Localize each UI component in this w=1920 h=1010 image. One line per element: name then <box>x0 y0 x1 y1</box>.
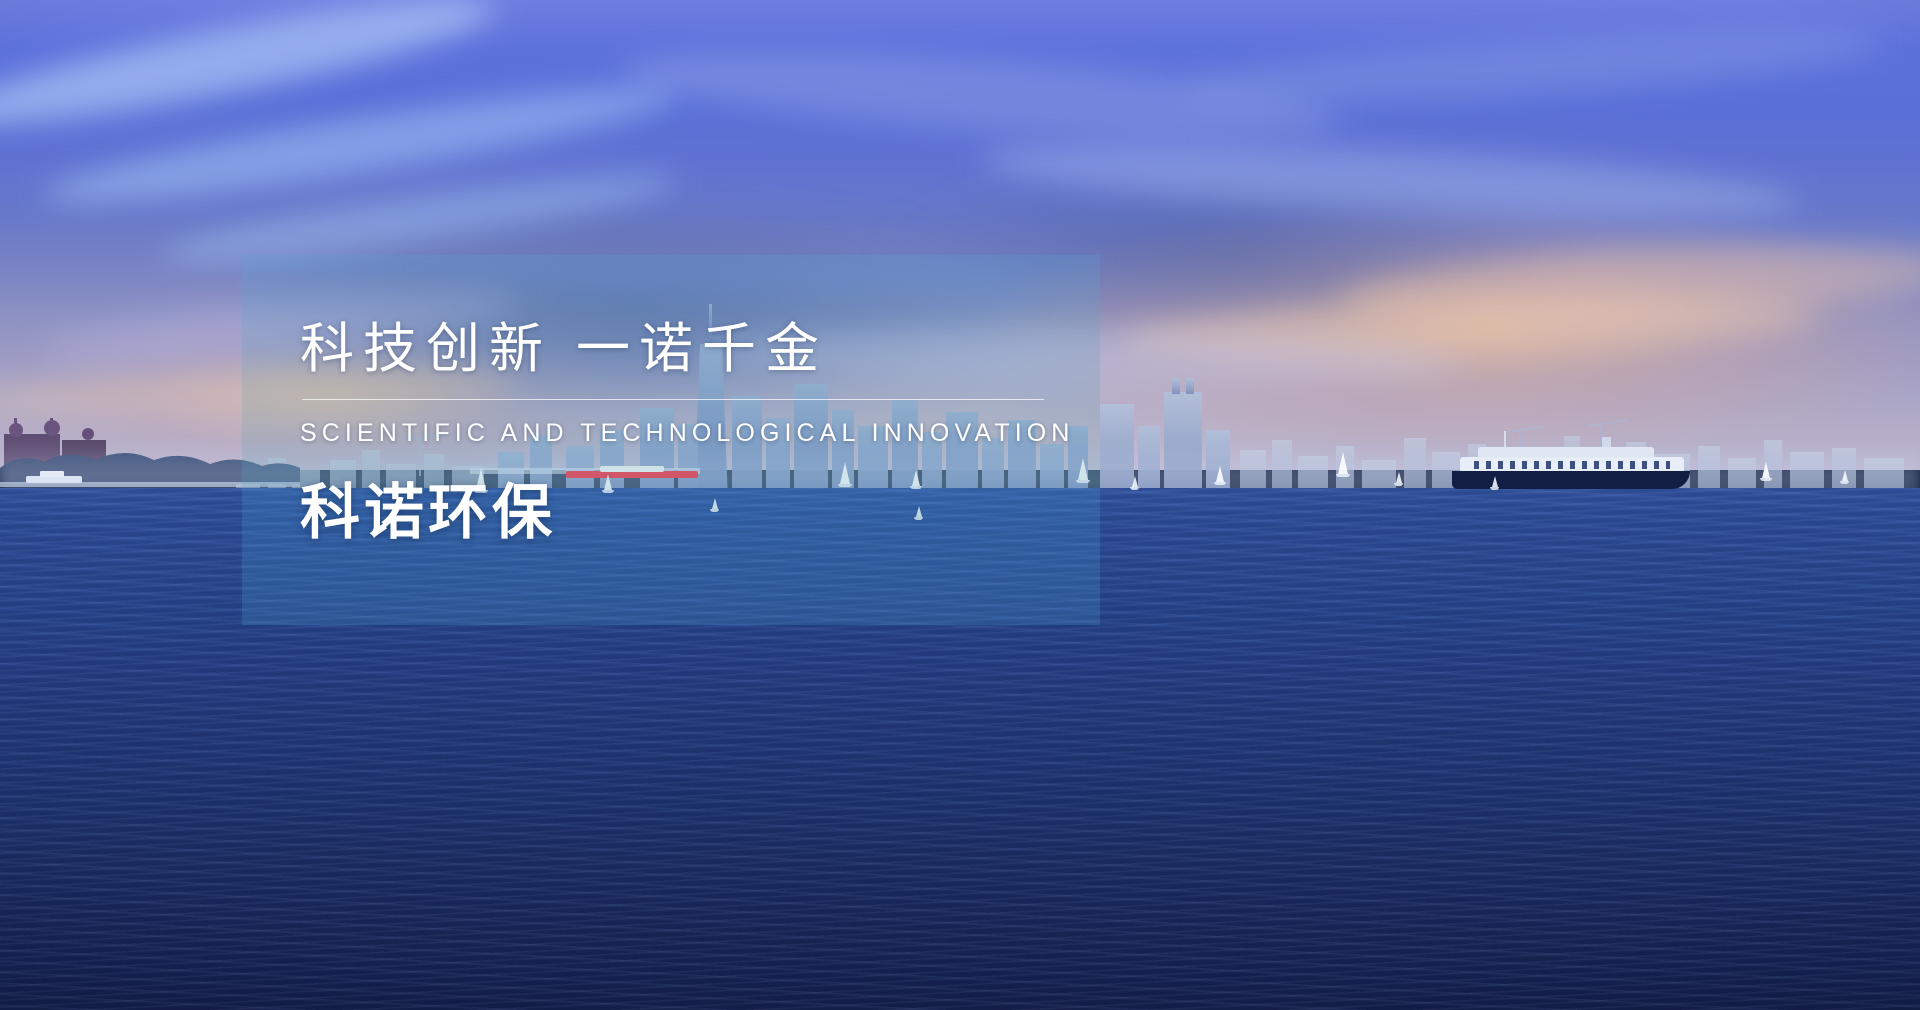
staten-island-ferry <box>1452 445 1690 489</box>
hero-headline: 科技创新 一诺千金 <box>300 319 1100 379</box>
ferry-hull <box>1452 471 1690 489</box>
hero-banner: 科技创新 一诺千金 SCIENTIFIC AND TECHNOLOGICAL I… <box>0 0 1920 1010</box>
hero-brand-name: 科诺环保 <box>300 480 1100 546</box>
ferry-windows <box>1474 461 1670 469</box>
hero-overlay-panel: 科技创新 一诺千金 SCIENTIFIC AND TECHNOLOGICAL I… <box>242 255 1100 625</box>
hero-subline: SCIENTIFIC AND TECHNOLOGICAL INNOVATION <box>300 419 1100 448</box>
hero-text-block: 科技创新 一诺千金 SCIENTIFIC AND TECHNOLOGICAL I… <box>242 255 1100 625</box>
hero-divider <box>302 399 1044 400</box>
